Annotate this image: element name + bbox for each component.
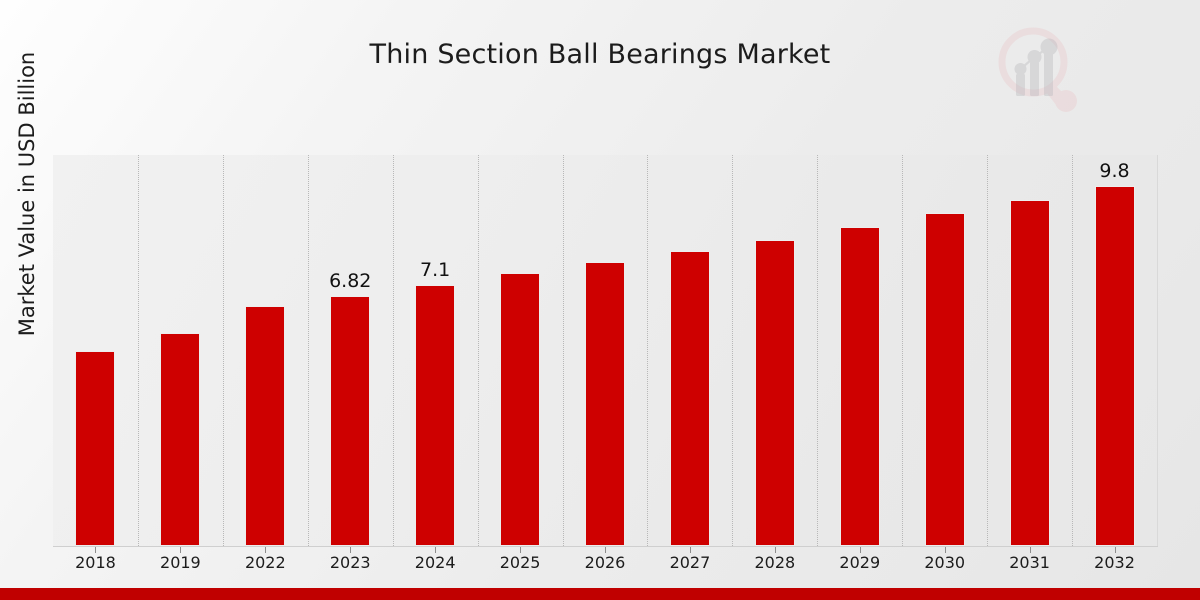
gridline — [478, 155, 479, 546]
gridline — [987, 155, 988, 546]
x-tick-label-2032: 2032 — [1075, 553, 1155, 572]
gridline — [393, 155, 394, 546]
gridline — [223, 155, 224, 546]
x-tick-label-2030: 2030 — [905, 553, 985, 572]
bar-2027[interactable] — [670, 251, 710, 546]
bar-2026[interactable] — [585, 262, 625, 546]
bar-2029[interactable] — [840, 227, 880, 546]
x-tick-label-2029: 2029 — [820, 553, 900, 572]
bar-2031[interactable] — [1010, 200, 1050, 546]
bar-value-label-2032: 9.8 — [1065, 160, 1165, 182]
bar-2018[interactable] — [75, 351, 115, 546]
x-tick-label-2027: 2027 — [650, 553, 730, 572]
gridline — [308, 155, 309, 546]
bar-2032[interactable] — [1095, 186, 1135, 546]
x-tick-label-2031: 2031 — [990, 553, 1070, 572]
bar-2022[interactable] — [245, 306, 285, 546]
gridline — [138, 155, 139, 546]
bar-2028[interactable] — [755, 240, 795, 546]
gridline — [902, 155, 903, 546]
gridline — [563, 155, 564, 546]
gridline — [732, 155, 733, 546]
bar-2024[interactable] — [415, 285, 455, 546]
bar-2025[interactable] — [500, 273, 540, 546]
x-tick-label-2018: 2018 — [55, 553, 135, 572]
gridline — [1072, 155, 1073, 546]
footer-accent-bar — [0, 588, 1200, 600]
bar-2030[interactable] — [925, 213, 965, 546]
gridline — [817, 155, 818, 546]
x-tick-label-2028: 2028 — [735, 553, 815, 572]
x-tick-label-2019: 2019 — [140, 553, 220, 572]
bar-2019[interactable] — [160, 333, 200, 546]
x-tick-label-2026: 2026 — [565, 553, 645, 572]
x-tick-label-2023: 2023 — [310, 553, 390, 572]
x-tick-label-2022: 2022 — [225, 553, 305, 572]
x-tick-label-2025: 2025 — [480, 553, 560, 572]
y-axis-label: Market Value in USD Billion — [15, 0, 39, 389]
page-title: Thin Section Ball Bearings Market — [0, 39, 1200, 70]
chart-figure: Thin Section Ball Bearings Market Market… — [0, 0, 1200, 600]
gridline — [647, 155, 648, 546]
x-tick-label-2024: 2024 — [395, 553, 475, 572]
bar-value-label-2024: 7.1 — [385, 259, 485, 281]
bar-2023[interactable] — [330, 296, 370, 546]
